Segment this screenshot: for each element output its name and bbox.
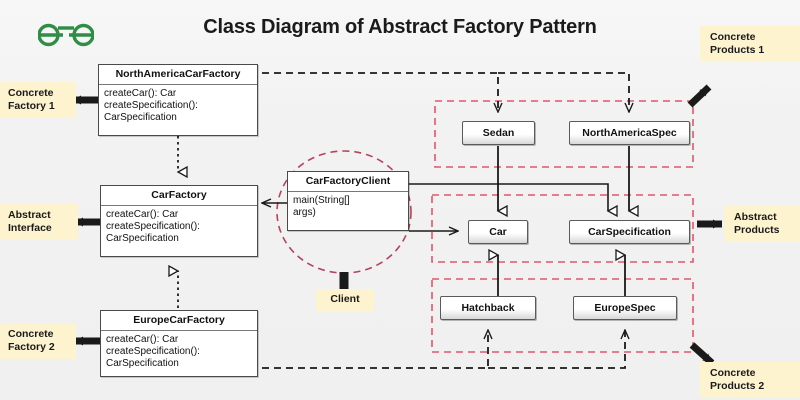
class-name: NorthAmericaCarFactory: [99, 65, 257, 85]
eu-creates-europespec: [488, 330, 625, 368]
callout-concrete-products-2: Concrete Products 2: [700, 362, 800, 398]
class-name: EuropeCarFactory: [101, 311, 257, 331]
operation: createCar(): Car: [104, 88, 252, 100]
operation: CarSpecification: [106, 233, 252, 245]
operation: createCar(): Car: [106, 209, 252, 221]
class-operations: createCar(): Car createSpecification(): …: [99, 85, 257, 129]
operation: createSpecification():: [106, 221, 252, 233]
product-car[interactable]: Car: [468, 220, 528, 244]
callout-concrete-products-1: Concrete Products 1: [700, 26, 800, 62]
operation: createSpecification():: [106, 346, 252, 358]
product-label: Hatchback: [461, 302, 514, 314]
operation: CarSpecification: [104, 112, 252, 124]
class-operations: createCar(): Car createSpecification(): …: [101, 331, 257, 375]
arrow-concrete-products-2: [692, 345, 712, 363]
operation: createCar(): Car: [106, 334, 252, 346]
class-operations: main(String[] args): [288, 192, 408, 223]
class-operations: createCar(): Car createSpecification(): …: [101, 206, 257, 250]
callout-concrete-factory-2: Concrete Factory 2: [0, 323, 76, 359]
product-label: Car: [489, 226, 507, 238]
callout-abstract-interface: Abstract Interface: [0, 204, 78, 240]
product-label: EuropeSpec: [594, 302, 655, 314]
callout-abstract-products: Abstract Products: [724, 206, 800, 242]
eu-creates-hatchback: [262, 330, 488, 368]
callout-concrete-factory-1: Concrete Factory 1: [0, 82, 76, 118]
client-uses-carspecification: [409, 184, 608, 211]
product-north-america-spec[interactable]: NorthAmericaSpec: [569, 121, 690, 145]
class-car-factory-client[interactable]: CarFactoryClient main(String[] args): [287, 171, 409, 231]
callout-client: Client: [316, 289, 374, 311]
product-car-specification[interactable]: CarSpecification: [569, 220, 690, 244]
product-sedan[interactable]: Sedan: [462, 121, 535, 145]
product-label: NorthAmericaSpec: [582, 127, 677, 139]
class-north-america-car-factory[interactable]: NorthAmericaCarFactory createCar(): Car …: [98, 64, 258, 136]
product-europe-spec[interactable]: EuropeSpec: [573, 296, 677, 320]
arrow-concrete-products-1: [690, 87, 709, 105]
product-label: Sedan: [483, 127, 515, 139]
operation: main(String[]: [293, 195, 403, 207]
class-name: CarFactory: [101, 186, 257, 206]
page-title: Class Diagram of Abstract Factory Patter…: [150, 16, 650, 39]
diagram-canvas: creates Sedan / NorthAmericaSpec ===== -…: [0, 0, 800, 400]
class-europe-car-factory[interactable]: EuropeCarFactory createCar(): Car create…: [100, 310, 258, 377]
product-hatchback[interactable]: Hatchback: [440, 296, 536, 320]
na-creates-naspec: [498, 73, 629, 112]
class-name: CarFactoryClient: [288, 172, 408, 192]
na-creates-sedan: [262, 73, 498, 112]
geeksforgeeks-logo: [38, 18, 94, 52]
product-label: CarSpecification: [588, 226, 671, 238]
operation: args): [293, 207, 403, 219]
operation: CarSpecification: [106, 358, 252, 370]
class-car-factory[interactable]: CarFactory createCar(): Car createSpecif…: [100, 185, 258, 257]
operation: createSpecification():: [104, 100, 252, 112]
